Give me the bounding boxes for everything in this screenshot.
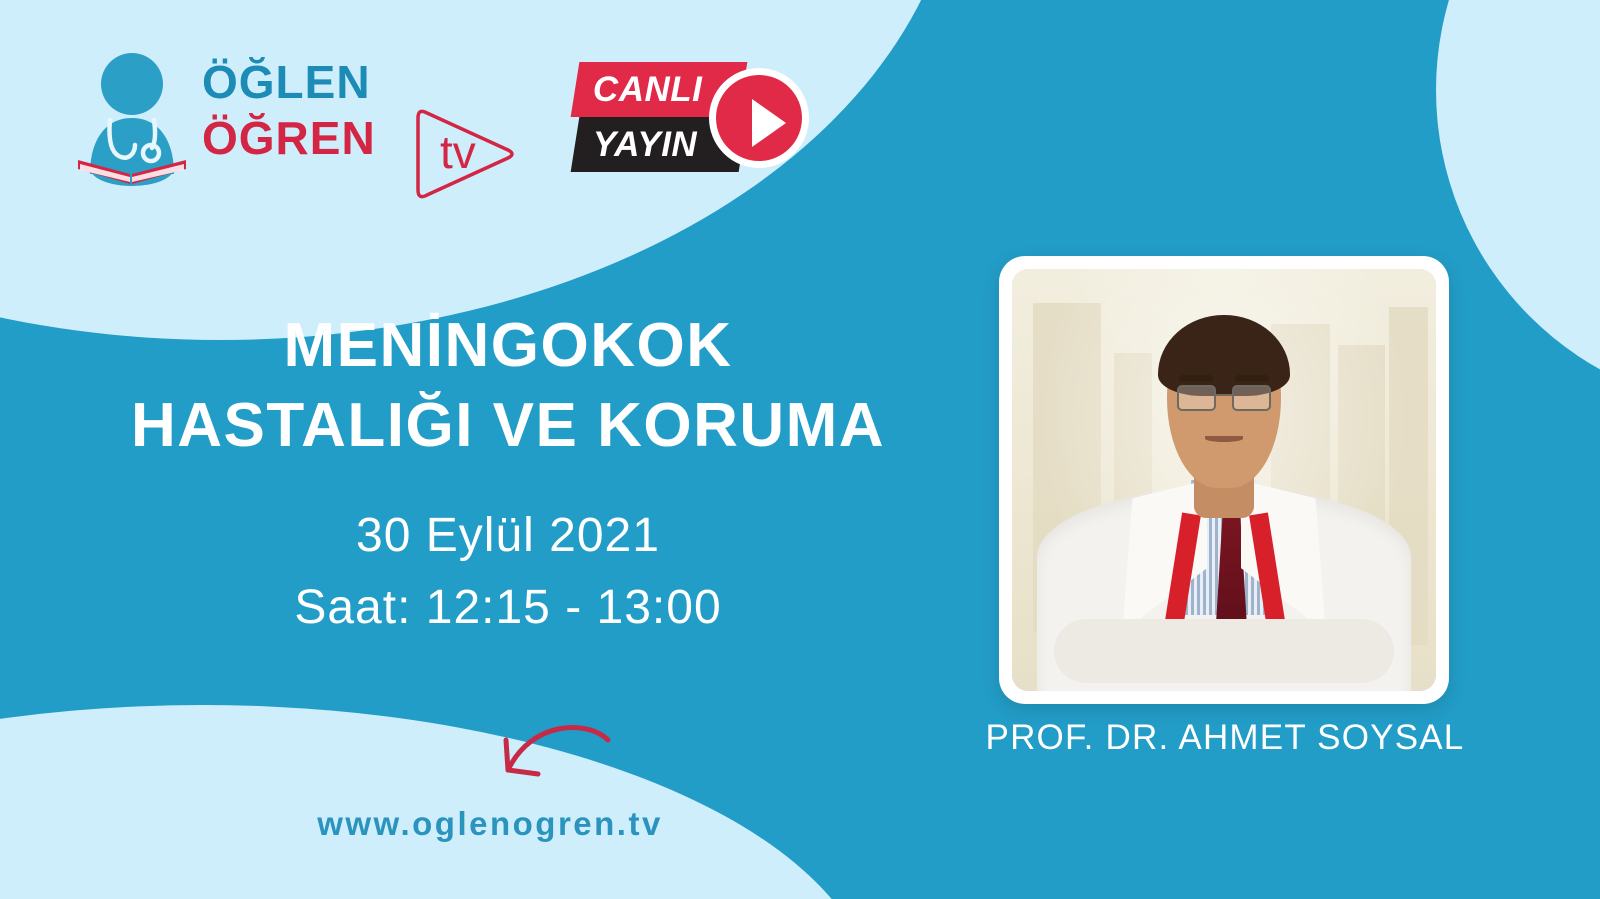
logo-line-oglen: ÖĞLEN — [202, 54, 376, 110]
schedule-block: 30 Eylül 2021 Saat: 12:15 - 13:00 — [38, 500, 978, 644]
page-title: MENİNGOKOK HASTALIĞI VE KORUMA — [38, 306, 978, 466]
badge-text-yayin: YAYIN — [593, 125, 697, 165]
logo-line-ogren: ÖĞREN — [202, 110, 376, 166]
speaker-photo-frame — [999, 256, 1449, 704]
play-button[interactable] — [709, 68, 809, 168]
logo-wordmark: ÖĞLEN ÖĞREN — [202, 54, 376, 166]
eyeglass-lens-right — [1232, 385, 1270, 411]
brand-logo[interactable]: ÖĞLEN ÖĞREN tv — [74, 46, 454, 186]
speaker-portrait-photo — [1012, 269, 1436, 691]
svg-text:tv: tv — [440, 126, 476, 178]
title-line-1: MENİNGOKOK — [38, 306, 978, 386]
badge-text-canli: CANLI — [593, 70, 702, 110]
hair — [1158, 315, 1289, 395]
eyeglass-lens-left — [1177, 385, 1215, 411]
eyebrow-left — [1179, 375, 1213, 382]
schedule-time: Saat: 12:15 - 13:00 — [38, 572, 978, 644]
title-line-2: HASTALIĞI VE KORUMA — [38, 386, 978, 466]
eyeglass-bridge-icon — [1216, 394, 1233, 397]
doctor-with-book-icon — [74, 50, 190, 186]
speaker-name: PROF. DR. AHMET SOYSAL — [940, 718, 1510, 758]
tv-play-mark-icon: tv — [404, 102, 520, 206]
top-right-blob — [1436, 0, 1600, 410]
website-url[interactable]: www.oglenogren.tv — [170, 805, 810, 843]
person-figure — [1012, 269, 1436, 691]
crossed-arms — [1054, 619, 1393, 682]
eyebrow-right — [1235, 375, 1269, 382]
bottom-blob — [0, 705, 875, 899]
curved-arrow-icon — [480, 718, 620, 798]
schedule-date: 30 Eylül 2021 — [38, 500, 978, 572]
live-broadcast-badge[interactable]: CANLI YAYIN — [575, 62, 825, 174]
play-triangle-icon — [752, 99, 786, 147]
promo-banner: ÖĞLEN ÖĞREN tv CANLI YAYIN MENİNGOKOK HA… — [0, 0, 1600, 899]
